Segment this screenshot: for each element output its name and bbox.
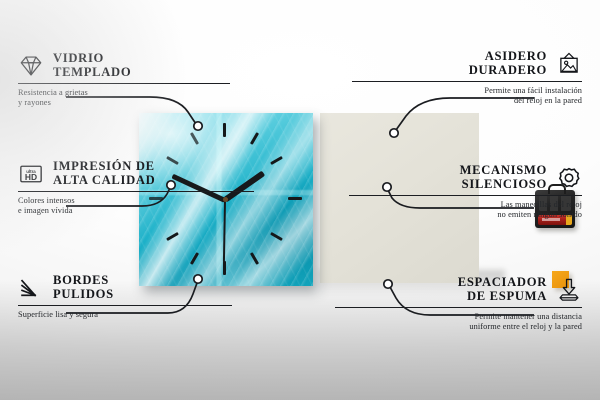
- hour-marker: [288, 197, 302, 200]
- feature-block-hook: ASIDERO DURADERO Permite una fácil insta…: [327, 50, 582, 107]
- diamond-icon: [18, 53, 44, 79]
- feature-block-edges: BORDES PULIDOS Superficie lisa y segura: [18, 274, 273, 320]
- hour-marker: [223, 261, 226, 275]
- feature-desc-line2: del reloj en la pared: [327, 96, 582, 106]
- feature-desc-line1: Resistencia a grietas: [18, 88, 273, 98]
- feature-desc-line1: Permite una fácil instalación: [327, 86, 582, 96]
- feature-title: ASIDERO DURADERO: [469, 50, 547, 77]
- foam-spacer-arrow-icon: [556, 277, 582, 303]
- feature-description: Permite mantener una distancia uniforme …: [327, 312, 582, 332]
- feature-block-foam: ESPACIADOR DE ESPUMA Permite mantener un…: [327, 276, 582, 333]
- divider: [18, 83, 230, 84]
- feature-title-line2: DE ESPUMA: [458, 290, 547, 304]
- feature-desc-line2: e imagen vívida: [18, 206, 273, 216]
- divider: [18, 191, 254, 192]
- feature-header: ASIDERO DURADERO: [327, 50, 582, 77]
- ultra-hd-icon: ultra HD: [18, 161, 44, 187]
- feature-description: Permite una fácil instalación del reloj …: [327, 86, 582, 106]
- feature-description: Superficie lisa y segura: [18, 310, 273, 320]
- divider: [352, 81, 582, 82]
- feature-title-line2: TEMPLADO: [53, 66, 131, 80]
- feature-header: BORDES PULIDOS: [18, 274, 273, 301]
- feature-title-line2: DURADERO: [469, 64, 547, 78]
- feature-title: ESPACIADOR DE ESPUMA: [458, 276, 547, 303]
- feature-desc-line2: y rayones: [18, 98, 273, 108]
- feature-desc-line1: Colores intensos: [18, 196, 273, 206]
- divider: [349, 195, 582, 196]
- feature-block-glass: VIDRIO TEMPLADO Resistencia a grietas y …: [18, 52, 273, 109]
- feature-header: ultra HD IMPRESIÓN DE ALTA CALIDAD: [18, 160, 273, 187]
- feature-title-line1: VIDRIO: [53, 52, 131, 66]
- feature-desc-line2: uniforme entre el reloj y la pared: [327, 322, 582, 332]
- feature-block-mechanism: MECANISMO SILENCIOSO Las manecillas del …: [327, 164, 582, 221]
- hour-marker: [223, 123, 226, 137]
- feature-header: MECANISMO SILENCIOSO: [327, 164, 582, 191]
- feature-title: MECANISMO SILENCIOSO: [460, 164, 547, 191]
- feature-block-print: ultra HD IMPRESIÓN DE ALTA CALIDAD Color…: [18, 160, 273, 217]
- feature-desc-line1: Superficie lisa y segura: [18, 310, 273, 320]
- feature-title-line1: ESPACIADOR: [458, 276, 547, 290]
- feature-title: BORDES PULIDOS: [53, 274, 114, 301]
- divider: [18, 305, 232, 306]
- feature-desc-line1: Permite mantener una distancia: [327, 312, 582, 322]
- feature-title-line1: ASIDERO: [469, 50, 547, 64]
- feature-title-line1: IMPRESIÓN DE: [53, 160, 155, 174]
- polished-edges-icon: [18, 275, 44, 301]
- feature-title-line2: PULIDOS: [53, 288, 114, 302]
- feature-title-line2: ALTA CALIDAD: [53, 174, 155, 188]
- feature-description: Colores intensos e imagen vívida: [18, 196, 273, 216]
- infographic-canvas: VIDRIO TEMPLADO Resistencia a grietas y …: [0, 0, 600, 400]
- feature-title: IMPRESIÓN DE ALTA CALIDAD: [53, 160, 155, 187]
- feature-desc-line1: Las manecillas del reloj: [327, 200, 582, 210]
- ultra-hd-main-label: HD: [25, 171, 37, 181]
- feature-header: ESPACIADOR DE ESPUMA: [327, 276, 582, 303]
- feature-title-line2: SILENCIOSO: [460, 178, 547, 192]
- framed-picture-hanging-icon: [556, 51, 582, 77]
- feature-desc-line2: no emiten ningún sonido: [327, 210, 582, 220]
- feature-title: VIDRIO TEMPLADO: [53, 52, 131, 79]
- feature-description: Resistencia a grietas y rayones: [18, 88, 273, 108]
- feature-header: VIDRIO TEMPLADO: [18, 52, 273, 79]
- feature-description: Las manecillas del reloj no emiten ningú…: [327, 200, 582, 220]
- divider: [335, 307, 582, 308]
- gear-icon: [556, 165, 582, 191]
- feature-title-line1: BORDES: [53, 274, 114, 288]
- feature-title-line1: MECANISMO: [460, 164, 547, 178]
